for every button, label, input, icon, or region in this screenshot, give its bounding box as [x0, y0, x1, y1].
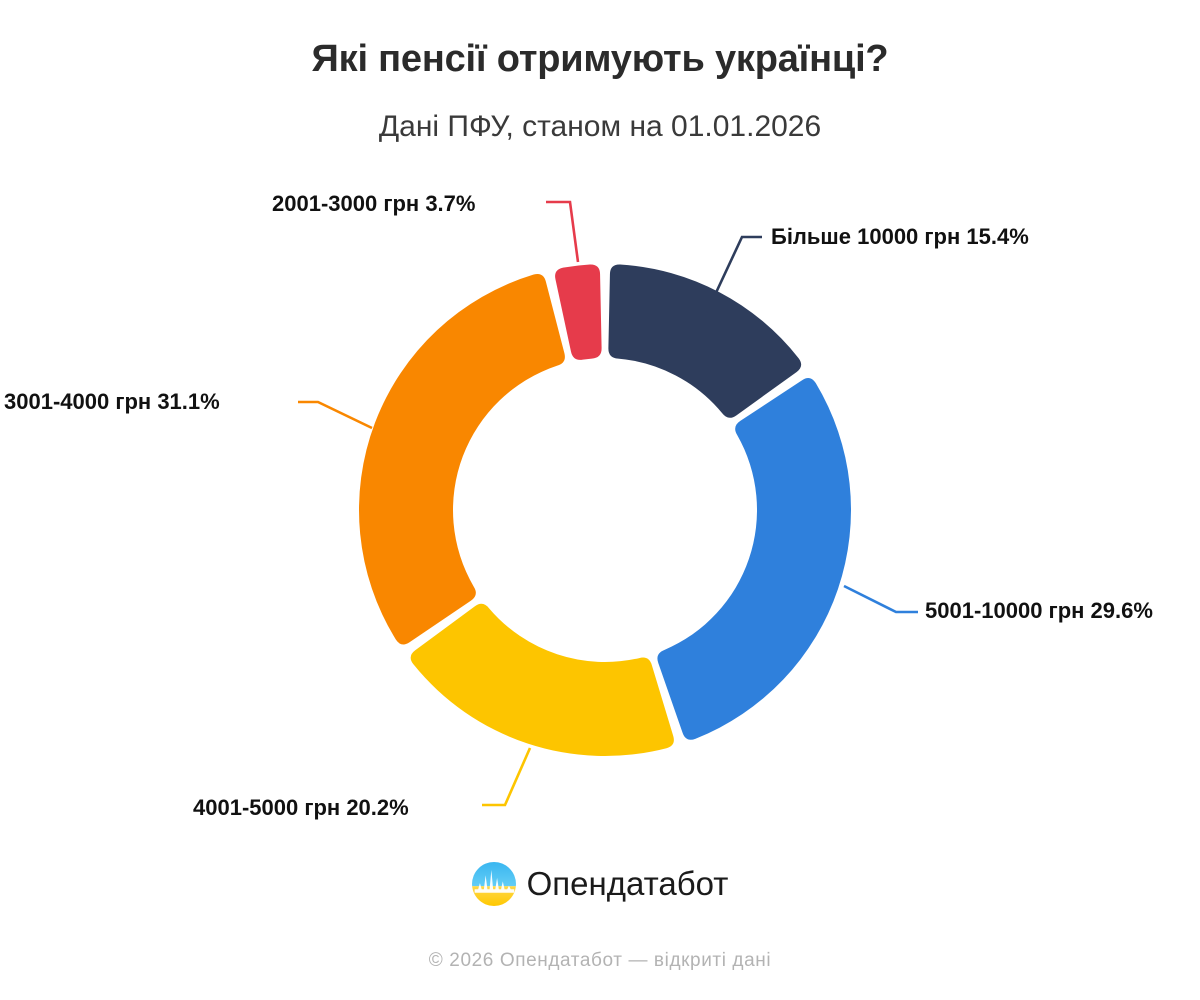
- opendatabot-logo-icon: [472, 862, 516, 906]
- slice-label-4001-5000: 4001-5000 грн 20.2%: [193, 797, 409, 819]
- donut-slice[interactable]: [608, 264, 801, 417]
- donut-chart: 2001-3000 грн 3.7% Більше 10000 грн 15.4…: [0, 0, 1200, 860]
- donut-slice[interactable]: [359, 274, 565, 645]
- slice-label-2001-3000: 2001-3000 грн 3.7%: [272, 193, 475, 215]
- slice-label-3001-4000: 3001-4000 грн 31.1%: [4, 391, 220, 413]
- leader-line: [844, 586, 918, 612]
- donut-slices: [359, 264, 851, 756]
- donut-chart-svg: [0, 0, 1200, 860]
- infographic-page: Які пенсії отримують українці? Дані ПФУ,…: [0, 0, 1200, 1000]
- slice-label-5001-10000: 5001-10000 грн 29.6%: [925, 600, 1153, 622]
- slice-label-more-10000: Більше 10000 грн 15.4%: [771, 226, 1029, 248]
- brand-footer: Опендатабот: [0, 862, 1200, 906]
- leader-line: [298, 402, 372, 428]
- brand-name: Опендатабот: [527, 865, 729, 903]
- copyright-text: © 2026 Опендатабот — відкриті дані: [0, 950, 1200, 972]
- leader-line: [482, 748, 530, 805]
- leader-line: [546, 202, 578, 262]
- donut-slice[interactable]: [411, 604, 674, 756]
- donut-slice[interactable]: [657, 378, 851, 740]
